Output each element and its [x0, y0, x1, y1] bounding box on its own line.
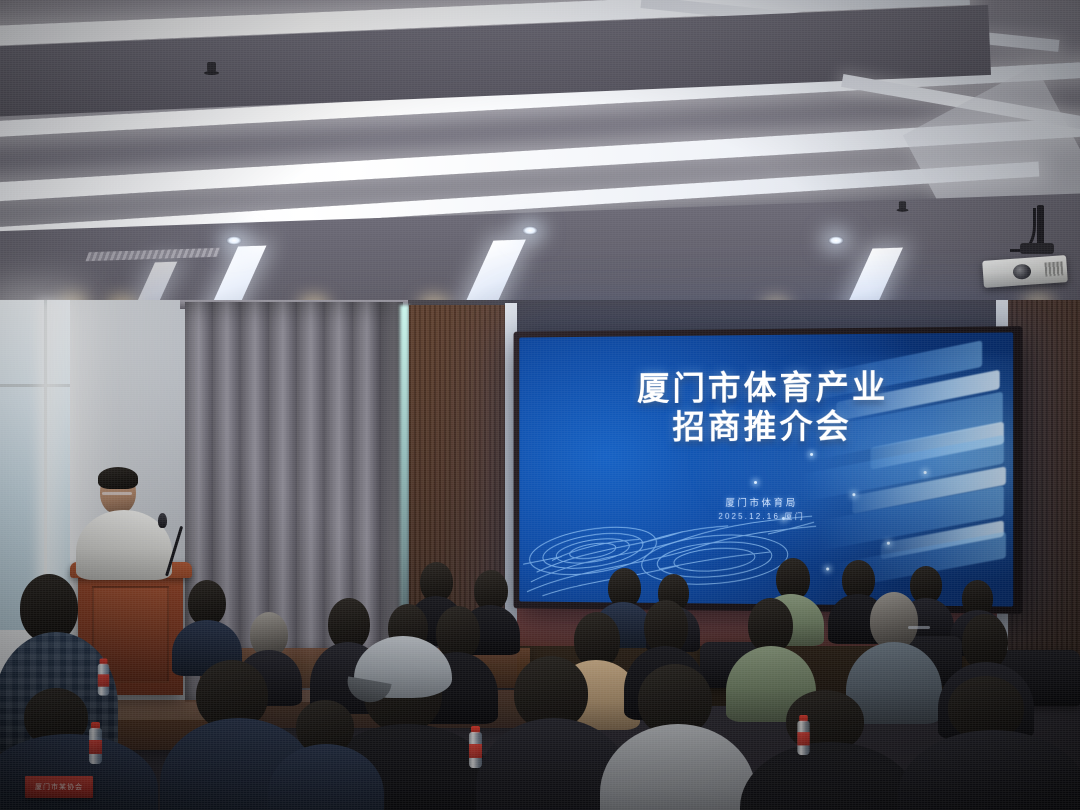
sprinkler-head-icon-2 — [899, 201, 906, 211]
table-name-card: 厦门市某协会 — [25, 776, 93, 798]
bottle-label — [797, 732, 809, 745]
head — [748, 598, 793, 653]
water-bottle-4[interactable] — [796, 715, 810, 755]
projector-vent-grille — [1044, 261, 1063, 276]
audience-person-f9 — [268, 700, 378, 810]
speaker-person — [78, 470, 168, 580]
microphone-icon — [158, 513, 167, 528]
projector-lens-icon — [1013, 264, 1032, 280]
audience-person-b9 — [172, 580, 242, 670]
torso — [600, 724, 756, 810]
slide-spark-6 — [754, 481, 757, 484]
audience-person-f6 — [600, 664, 750, 810]
ceiling-spotlight-2 — [522, 226, 538, 235]
water-bottle-1[interactable] — [88, 722, 103, 764]
conference-photo: 厦门市体育产业 招商推介会 厦门市体育局 2025.12.16 厦门 — [0, 0, 1080, 810]
audience-person-f8 — [898, 676, 1078, 810]
water-bottle-3[interactable] — [468, 726, 483, 768]
projector-arm — [1020, 243, 1054, 254]
slide-title: 厦门市体育产业 招商推介会 — [519, 367, 1013, 447]
torso — [268, 744, 384, 810]
torso — [898, 730, 1080, 810]
projector-mount — [1037, 205, 1044, 245]
table-name-card-text: 厦门市某协会 — [35, 782, 83, 792]
water-bottle-2[interactable] — [97, 659, 110, 696]
torso — [0, 734, 158, 810]
speaker-hair — [98, 467, 138, 489]
slide-title-line1: 厦门市体育产业 — [637, 368, 888, 407]
ceiling-spotlight-3 — [828, 236, 844, 245]
sprinkler-head-icon — [207, 62, 216, 75]
slide-spark-4 — [887, 542, 890, 545]
slide-organizer: 厦门市体育局 — [519, 495, 1013, 510]
torso — [740, 742, 920, 810]
slide-spark-7 — [924, 471, 927, 474]
bottle-label — [89, 740, 102, 754]
ceiling — [0, 0, 1080, 332]
bottle-label — [469, 744, 482, 758]
speaker-glasses-icon — [102, 492, 132, 495]
slide-date-location: 2025.12.16 厦门 — [519, 510, 1013, 523]
glasses-icon — [908, 626, 930, 629]
slide-title-line2: 招商推介会 — [519, 407, 1013, 448]
bottle-label — [98, 674, 109, 686]
audience-person-f7 — [740, 690, 910, 810]
ceiling-spotlight-1 — [226, 236, 242, 245]
slide-spark-1 — [810, 453, 813, 456]
